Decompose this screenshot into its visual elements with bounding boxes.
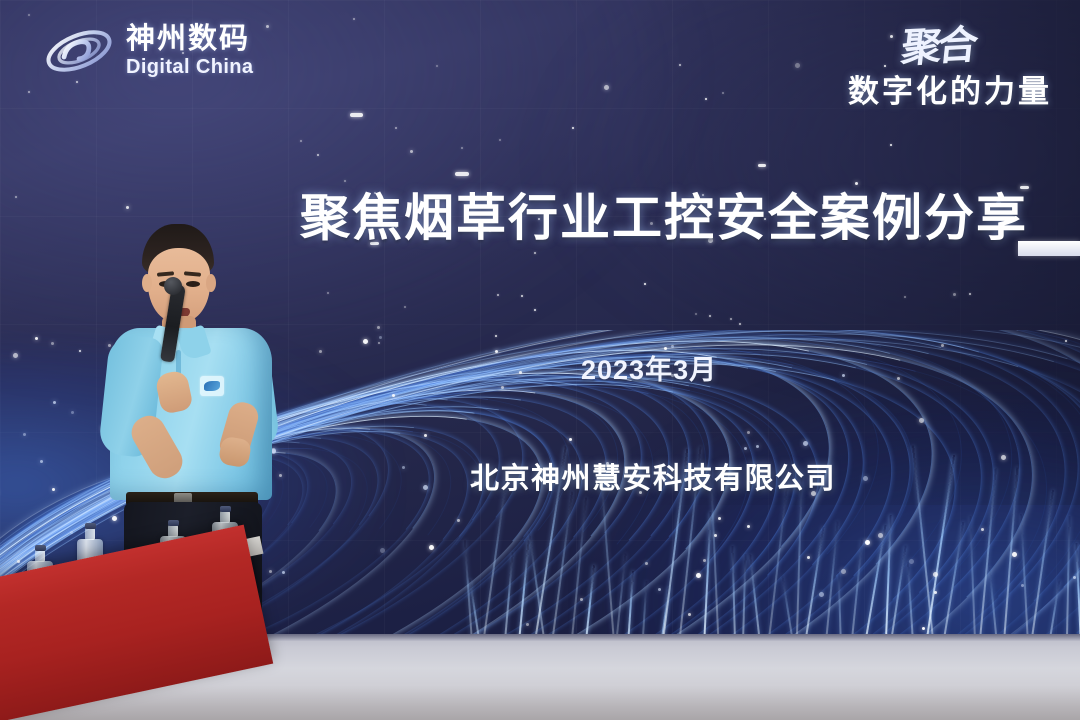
speaker-ear-left bbox=[142, 274, 152, 292]
event-logo-calligraphy: 聚合 bbox=[899, 12, 978, 74]
event-logo: 聚合 数字化的力量 bbox=[848, 14, 1052, 111]
brand-name-cn: 神州数码 bbox=[126, 25, 253, 54]
digital-china-wordmark: 神州数码 Digital China bbox=[126, 25, 253, 77]
brand-name-en: Digital China bbox=[126, 57, 253, 77]
slide-company-name: 北京神州慧安科技有限公司 bbox=[470, 455, 836, 497]
spiral-swoosh-icon bbox=[42, 18, 116, 84]
speaker-ear-right bbox=[206, 274, 216, 292]
slide-title: 聚焦烟草行业工控安全案例分享 bbox=[300, 178, 1020, 250]
stage-floor-shadow bbox=[0, 686, 1080, 720]
screenshot-root: 聚焦烟草行业工控安全案例分享 2023年3月 北京神州慧安科技有限公司 bbox=[0, 0, 1080, 720]
speaker-chest-logo bbox=[200, 376, 224, 396]
event-logo-subtitle: 数字化的力量 bbox=[848, 66, 1052, 111]
speaker-eye-right bbox=[186, 281, 200, 287]
slide-date: 2023年3月 bbox=[581, 348, 717, 387]
digital-china-logo: 神州数码 Digital China bbox=[42, 18, 253, 84]
